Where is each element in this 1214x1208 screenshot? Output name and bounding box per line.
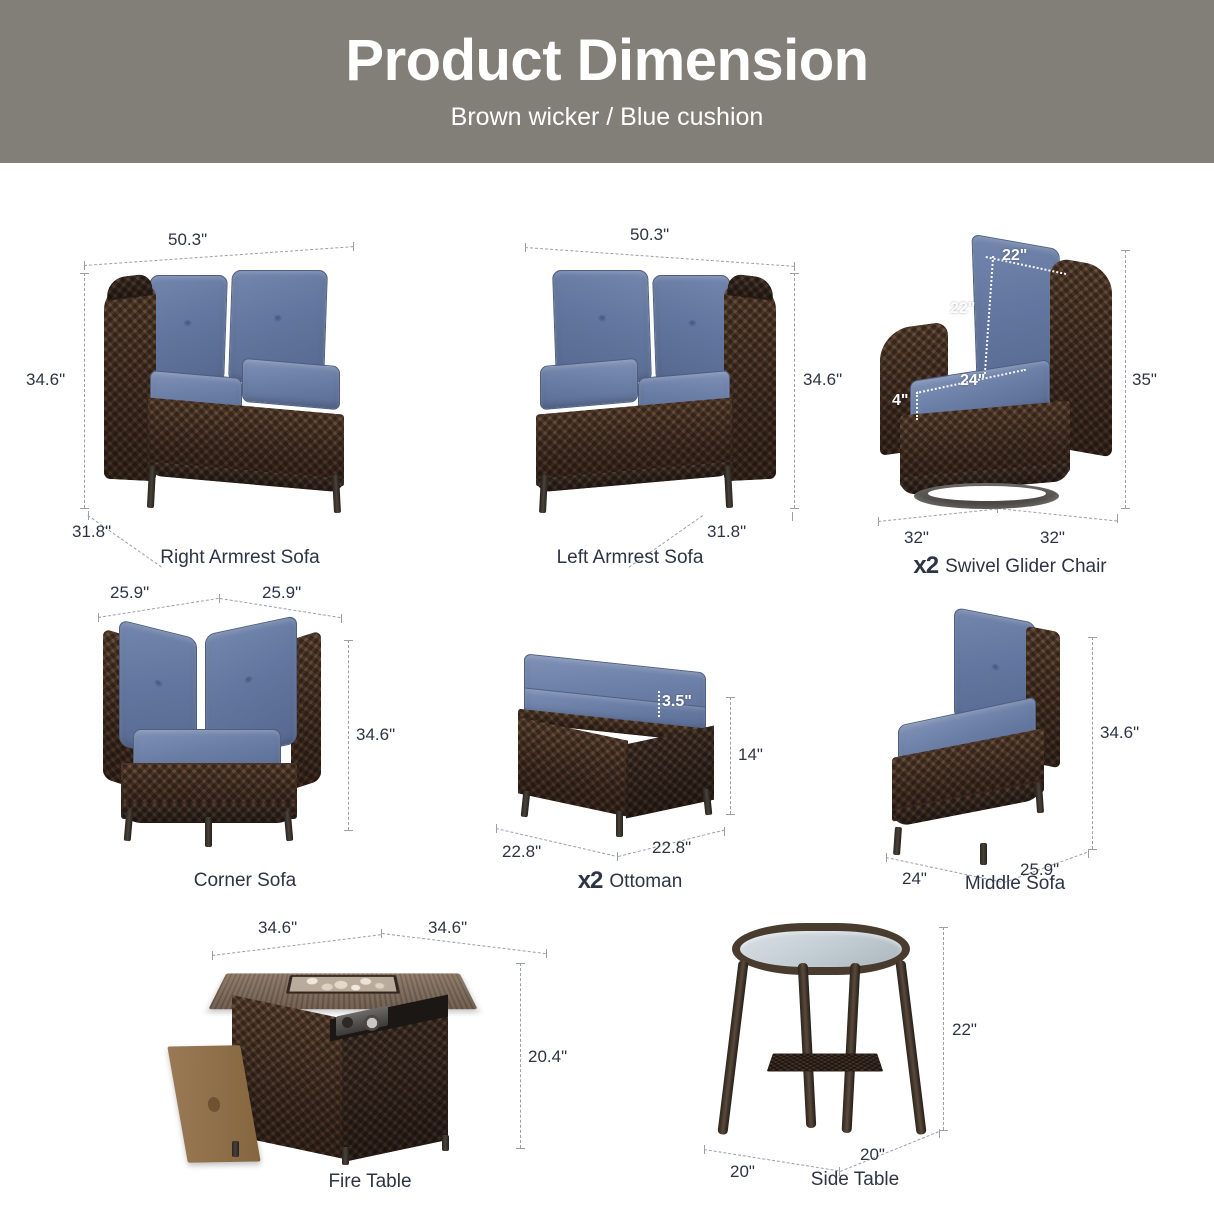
dim-side-b: 25.9"	[262, 583, 301, 603]
fire-table-illustration	[180, 945, 510, 1160]
dim-side-a: 25.9"	[110, 583, 149, 603]
caption-fire-table: Fire Table	[170, 1171, 570, 1193]
caption-right-armrest-sofa: Right Armrest Sofa	[60, 547, 420, 569]
dim-depth: 22.8"	[652, 838, 691, 858]
header-banner: Product Dimension Brown wicker / Blue cu…	[0, 0, 1214, 163]
dim-depth: 31.8"	[72, 522, 111, 542]
item-quantity: x2	[578, 867, 603, 894]
dim-back-cushion-height: 22"	[950, 300, 975, 318]
ottoman-illustration: 3.5"	[506, 663, 726, 838]
dim-line-height	[348, 640, 349, 830]
item-swivel-glider-chair: 35" 32" 32"	[860, 225, 1160, 585]
chair-illustration: 22" 22" 24" 4"	[870, 240, 1120, 515]
item-right-armrest-sofa: 50.3" 34.6" 31.8"	[60, 225, 420, 580]
item-middle-sofa: 34.6" 24" 25.9" Middle Sofa	[870, 615, 1160, 905]
item-fire-table: 34.6" 34.6" 20.4"	[170, 915, 570, 1200]
dim-height: 34.6"	[1100, 723, 1139, 743]
dim-width: 32"	[904, 528, 929, 548]
dim-height: 35"	[1132, 370, 1157, 390]
dim-line-height	[730, 697, 731, 814]
dim-width: 50.3"	[168, 230, 207, 250]
dim-depth: 32"	[1040, 528, 1065, 548]
dim-cushion-thickness: 3.5"	[662, 693, 692, 711]
dim-line-height	[1092, 637, 1093, 849]
item-label: Ottoman	[609, 871, 682, 892]
dim-height: 20.4"	[528, 1047, 567, 1067]
item-corner-sofa: 25.9" 25.9" 34.6"	[70, 585, 420, 905]
caption-middle-sofa: Middle Sofa	[870, 873, 1160, 895]
item-label: Swivel Glider Chair	[945, 556, 1107, 577]
corner-sofa-illustration	[95, 625, 345, 840]
caption-ottoman: x2Ottoman	[480, 867, 780, 895]
sofa-illustration	[90, 270, 400, 515]
item-label: Side Table	[811, 1169, 899, 1190]
dim-line-width	[84, 246, 353, 266]
item-label: Left Armrest Sofa	[557, 547, 704, 568]
item-side-table: 22" 20" 20" Side Table	[690, 905, 1020, 1200]
item-label: Fire Table	[328, 1171, 411, 1192]
page-subtitle: Brown wicker / Blue cushion	[451, 103, 764, 132]
item-label: Corner Sofa	[194, 870, 296, 891]
dim-seat-thickness: 4"	[892, 392, 908, 410]
item-left-armrest-sofa: 50.3" 34.6" 31.8" Left Armrest Sofa	[445, 225, 815, 580]
item-quantity: x2	[913, 552, 938, 579]
dim-line-height	[84, 273, 85, 508]
dim-depth: 34.6"	[428, 918, 467, 938]
burner-gauge-icon	[364, 1015, 380, 1031]
dim-depth: 20"	[860, 1145, 885, 1165]
item-label: Middle Sofa	[965, 873, 1065, 894]
middle-sofa-illustration	[884, 615, 1084, 855]
page-title: Product Dimension	[345, 31, 868, 92]
lower-shelf	[767, 1053, 883, 1071]
caption-left-armrest-sofa: Left Armrest Sofa	[445, 547, 815, 569]
dim-depth: 31.8"	[707, 522, 746, 542]
burner-knob-icon	[342, 1017, 353, 1028]
guide-seat-thickness	[916, 392, 918, 420]
item-label: Right Armrest Sofa	[160, 547, 319, 568]
caption-side-table: Side Table	[690, 1169, 1020, 1191]
dim-line-width-left	[704, 1149, 838, 1171]
side-table-illustration	[710, 915, 940, 1145]
dim-width: 34.6"	[258, 918, 297, 938]
dim-height: 34.6"	[26, 370, 65, 390]
dim-line-height	[794, 273, 795, 508]
dim-height: 34.6"	[356, 725, 395, 745]
guide-cushion-thickness	[658, 691, 660, 717]
dim-back-cushion-width: 22"	[1002, 247, 1027, 265]
dim-height: 14"	[738, 745, 763, 765]
item-ottoman: 14" 22.8" 22.8" 3.5" x2Ottoman	[480, 645, 780, 905]
dim-line-height	[943, 927, 944, 1130]
dim-line-width	[525, 247, 794, 267]
dim-width: 22.8"	[502, 842, 541, 862]
dim-height: 22"	[952, 1020, 977, 1040]
dim-height: 34.6"	[803, 370, 842, 390]
caption-corner-sofa: Corner Sofa	[70, 870, 420, 892]
dim-line-height	[1125, 250, 1126, 508]
sofa-illustration	[480, 270, 790, 515]
dim-line-height	[520, 963, 521, 1148]
dim-width: 50.3"	[630, 225, 669, 245]
product-dimension-sheet: Product Dimension Brown wicker / Blue cu…	[0, 0, 1214, 1208]
dim-seat-depth: 24"	[960, 372, 985, 390]
caption-swivel-glider-chair: x2Swivel Glider Chair	[860, 552, 1160, 580]
